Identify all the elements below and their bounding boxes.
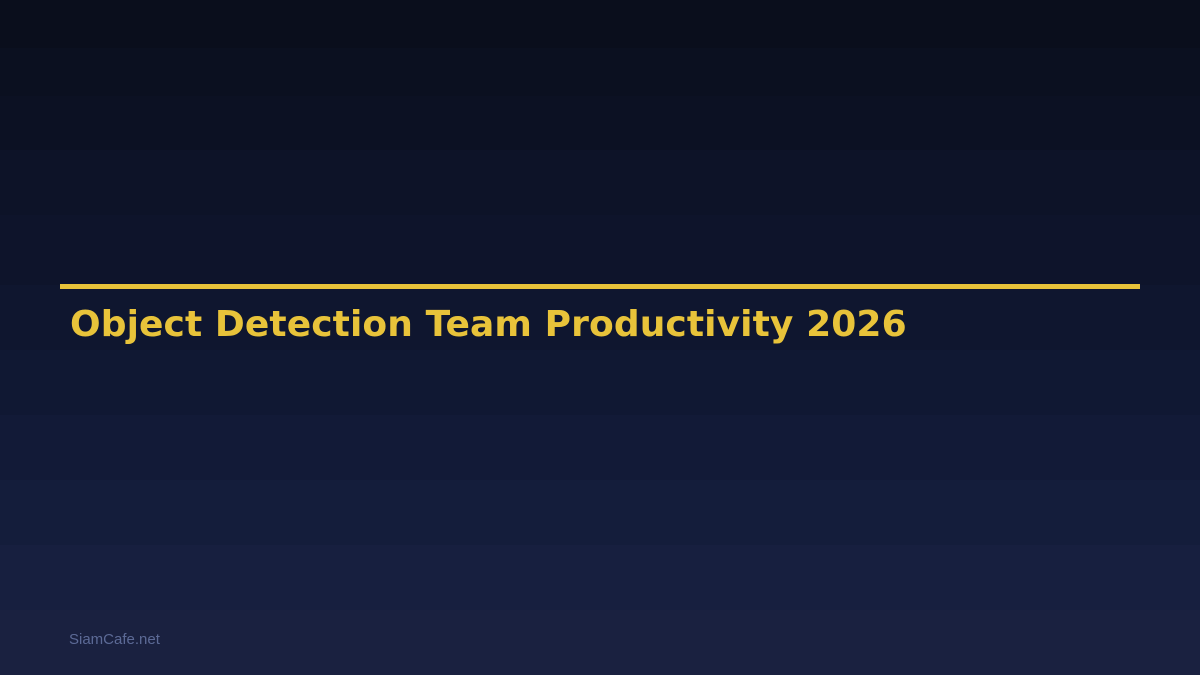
gold-accent-rule	[60, 284, 1140, 289]
footer-source-label: SiamCafe.net	[69, 630, 160, 650]
page-title: Object Detection Team Productivity 2026	[70, 303, 907, 347]
title-slide: Object Detection Team Productivity 2026 …	[0, 0, 1200, 675]
